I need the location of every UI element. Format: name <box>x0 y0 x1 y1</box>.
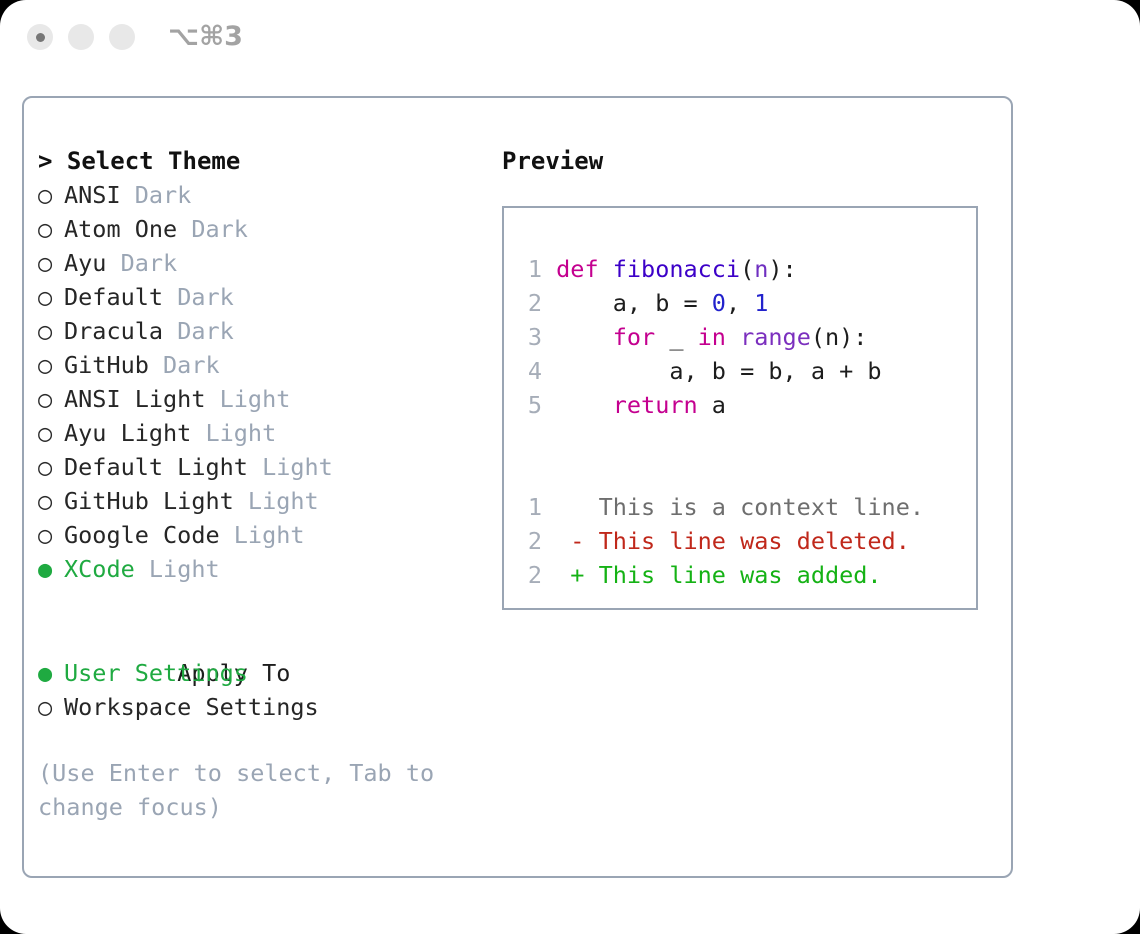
code-token-num: 1 <box>754 289 768 317</box>
preview-column: Preview 1 def fibonacci(n):2 a, b = 0, 1… <box>502 144 1002 610</box>
code-token-kw: return <box>613 391 698 419</box>
code-token-num: 0 <box>712 289 726 317</box>
code-token-fn: fibonacci <box>613 255 740 283</box>
theme-variant-badge: Light <box>220 521 305 549</box>
select-theme-heading: > Select Theme <box>38 144 478 178</box>
theme-list-item[interactable]: ○Default Light Light <box>38 450 478 484</box>
code-blank-line <box>520 456 924 490</box>
code-line: 2 a, b = 0, 1 <box>520 286 924 320</box>
preview-code: 1 def fibonacci(n):2 a, b = 0, 13 for _ … <box>520 252 924 592</box>
title-bar: ⌥⌘3 <box>0 0 1140 78</box>
theme-list-item[interactable]: ○ANSI Light Light <box>38 382 478 416</box>
theme-variant-badge: Dark <box>121 181 192 209</box>
theme-variant-badge: Dark <box>163 283 234 311</box>
code-token-kw: for <box>613 323 655 351</box>
diff-line: 2 - This line was deleted. <box>520 524 924 558</box>
code-line: 4 a, b = b, a + b <box>520 354 924 388</box>
radio-unselected-icon[interactable]: ○ <box>38 690 64 724</box>
theme-variant-badge: Dark <box>106 249 177 277</box>
radio-unselected-icon[interactable]: ○ <box>38 518 64 552</box>
diff-line: 2 + This line was added. <box>520 558 924 592</box>
code-token-call: range <box>740 323 811 351</box>
recording-dot-icon <box>36 33 45 42</box>
theme-name: ANSI <box>64 181 121 209</box>
theme-list-item[interactable]: ●XCode Light <box>38 552 478 586</box>
code-token-plain <box>726 323 740 351</box>
code-token-plain: a, b = b, a + b <box>556 357 881 385</box>
theme-selector-column: > Select Theme ○ANSI Dark○Atom One Dark○… <box>38 144 478 824</box>
code-token-plain: _ <box>655 323 697 351</box>
apply-to-option-label: User Settings <box>64 659 248 687</box>
apply-to-option-label: Workspace Settings <box>64 693 319 721</box>
app-window: ⌥⌘3 > Select Theme ○ANSI Dark○Atom One D… <box>0 0 1140 934</box>
theme-variant-badge: Light <box>191 419 276 447</box>
theme-name: Ayu <box>64 249 106 277</box>
code-line: 1 def fibonacci(n): <box>520 252 924 286</box>
code-token-plain <box>556 323 613 351</box>
theme-list-item[interactable]: ○Dracula Dark <box>38 314 478 348</box>
code-token-plain: ( <box>740 255 754 283</box>
keyboard-hint-text: (Use Enter to select, Tab to change focu… <box>38 756 438 824</box>
theme-name: GitHub Light <box>64 487 234 515</box>
code-token-plain: (n): <box>811 323 868 351</box>
theme-list: ○ANSI Dark○Atom One Dark○Ayu Dark○Defaul… <box>38 178 478 586</box>
code-line-number: 4 <box>520 354 542 388</box>
preview-title: Preview <box>502 144 1002 178</box>
diff-sign: - <box>542 527 599 555</box>
theme-variant-badge: Dark <box>177 215 248 243</box>
theme-variant-badge: Light <box>205 385 290 413</box>
radio-unselected-icon[interactable]: ○ <box>38 246 64 280</box>
code-token-plain: , <box>726 289 754 317</box>
main-panel: > Select Theme ○ANSI Dark○Atom One Dark○… <box>22 96 1013 878</box>
code-token-plain: a, b = <box>556 289 712 317</box>
keyboard-shortcut-label: ⌥⌘3 <box>168 21 243 52</box>
diff-line: 1 This is a context line. <box>520 490 924 524</box>
theme-list-item[interactable]: ○Atom One Dark <box>38 212 478 246</box>
theme-name: ANSI Light <box>64 385 205 413</box>
theme-variant-badge: Dark <box>163 317 234 345</box>
recording-indicator-dot[interactable] <box>27 24 53 50</box>
code-line: 3 for _ in range(n): <box>520 320 924 354</box>
theme-variant-badge: Light <box>135 555 220 583</box>
window-controls <box>27 24 135 50</box>
code-token-plain <box>556 391 613 419</box>
radio-unselected-icon[interactable]: ○ <box>38 314 64 348</box>
theme-name: Google Code <box>64 521 220 549</box>
theme-list-item[interactable]: ○GitHub Dark <box>38 348 478 382</box>
code-token-plain: ): <box>768 255 796 283</box>
theme-name: Default <box>64 283 163 311</box>
code-line-number: 3 <box>520 320 542 354</box>
theme-name: XCode <box>64 555 135 583</box>
radio-unselected-icon[interactable]: ○ <box>38 450 64 484</box>
theme-variant-badge: Light <box>248 453 333 481</box>
diff-text: This is a context line. <box>599 493 924 521</box>
diff-sign <box>542 493 599 521</box>
diff-line-number: 2 <box>520 558 542 592</box>
radio-unselected-icon[interactable]: ○ <box>38 178 64 212</box>
diff-text: This line was deleted. <box>599 527 910 555</box>
radio-unselected-icon[interactable]: ○ <box>38 416 64 450</box>
radio-unselected-icon[interactable]: ○ <box>38 280 64 314</box>
theme-list-item[interactable]: ○ANSI Dark <box>38 178 478 212</box>
code-line-number: 1 <box>520 252 542 286</box>
apply-to-option[interactable]: ○Workspace Settings <box>38 690 478 724</box>
theme-name: GitHub <box>64 351 149 379</box>
diff-line-number: 1 <box>520 490 542 524</box>
code-token-param: n <box>754 255 768 283</box>
theme-list-item[interactable]: ○Default Dark <box>38 280 478 314</box>
theme-name: Dracula <box>64 317 163 345</box>
window-dot-2[interactable] <box>68 24 94 50</box>
window-dot-3[interactable] <box>109 24 135 50</box>
radio-unselected-icon[interactable]: ○ <box>38 382 64 416</box>
theme-list-item[interactable]: ○Google Code Light <box>38 518 478 552</box>
radio-unselected-icon[interactable]: ○ <box>38 212 64 246</box>
code-line: 5 return a <box>520 388 924 422</box>
diff-sign: + <box>542 561 599 589</box>
theme-list-item[interactable]: ○Ayu Light Light <box>38 416 478 450</box>
apply-to-heading: Apply To <box>38 622 478 656</box>
radio-unselected-icon[interactable]: ○ <box>38 484 64 518</box>
preview-box: 1 def fibonacci(n):2 a, b = 0, 13 for _ … <box>502 206 978 610</box>
theme-name: Ayu Light <box>64 419 191 447</box>
theme-name: Default Light <box>64 453 248 481</box>
radio-selected-icon[interactable]: ● <box>38 656 64 690</box>
diff-line-number: 2 <box>520 524 542 558</box>
spacer <box>38 586 478 622</box>
code-line-number: 5 <box>520 388 542 422</box>
radio-unselected-icon[interactable]: ○ <box>38 348 64 382</box>
code-token-plain: a <box>698 391 726 419</box>
theme-list-item[interactable]: ○Ayu Dark <box>38 246 478 280</box>
code-token-kw: def <box>556 255 613 283</box>
diff-text: This line was added. <box>599 561 882 589</box>
code-token-kw: in <box>698 323 726 351</box>
theme-variant-badge: Light <box>234 487 319 515</box>
theme-variant-badge: Dark <box>149 351 220 379</box>
theme-list-item[interactable]: ○GitHub Light Light <box>38 484 478 518</box>
code-blank-line <box>520 422 924 456</box>
radio-selected-icon[interactable]: ● <box>38 552 64 586</box>
code-line-number: 2 <box>520 286 542 320</box>
theme-name: Atom One <box>64 215 177 243</box>
